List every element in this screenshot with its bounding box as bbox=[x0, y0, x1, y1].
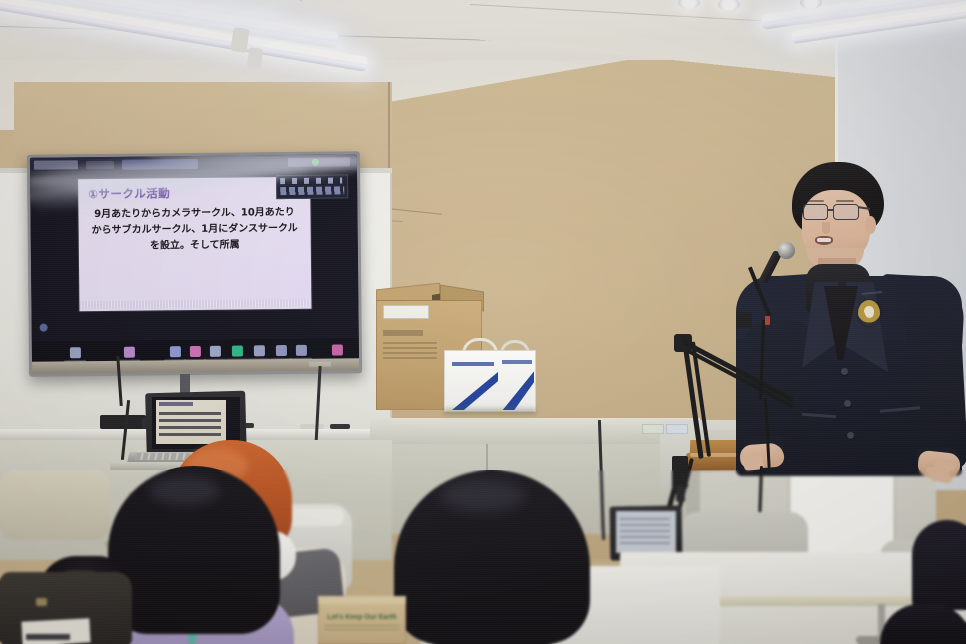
whiteboard-eraser[interactable] bbox=[100, 415, 146, 429]
toolbar-left-controls[interactable] bbox=[34, 160, 78, 169]
taskbar-icon[interactable] bbox=[210, 346, 221, 357]
audience-laptop-content bbox=[620, 518, 670, 544]
box-printed-text bbox=[383, 342, 437, 360]
hair-highlight bbox=[150, 476, 220, 506]
taskbar-icon[interactable] bbox=[232, 345, 243, 356]
status-dot-icon bbox=[312, 159, 319, 166]
eyeglasses-bridge bbox=[828, 209, 834, 211]
boom-arm-joint[interactable] bbox=[736, 312, 752, 328]
emblem-center-icon bbox=[865, 308, 874, 318]
shipping-label bbox=[383, 305, 429, 319]
taskbar-icon[interactable] bbox=[332, 344, 343, 355]
document-text bbox=[26, 634, 70, 640]
slide-bottom-strip bbox=[79, 299, 311, 309]
paper-bag-slogan: Let's Keep Our Earth bbox=[322, 614, 402, 621]
eyeglasses-lens-icon bbox=[803, 204, 828, 220]
laptop-slide-body bbox=[159, 412, 221, 436]
speaker-right-arm bbox=[904, 299, 966, 472]
taskbar-icon[interactable] bbox=[190, 346, 201, 357]
soffit-corner bbox=[388, 82, 390, 178]
black-marker[interactable] bbox=[330, 424, 350, 429]
box-printed-text bbox=[383, 330, 423, 336]
eyeglasses-lens-icon bbox=[833, 204, 859, 220]
classroom-chair[interactable] bbox=[0, 470, 110, 540]
microphone-indicator-icon bbox=[765, 316, 770, 325]
boom-arm-clamp[interactable] bbox=[672, 456, 688, 488]
display-screen[interactable]: ①サークル活動 9月あたりからカメラサークル、10月あたりからサブカルサークル、… bbox=[30, 154, 359, 367]
paper-bag-subtext bbox=[324, 625, 400, 632]
speaker-teeth bbox=[817, 238, 831, 242]
laptop-slide-title bbox=[159, 402, 193, 406]
bag-buckle bbox=[36, 598, 47, 606]
wall-outlet-plate bbox=[666, 424, 688, 434]
slide-title: ①サークル活動 bbox=[88, 184, 300, 202]
screen-side-indicator-icon bbox=[40, 324, 48, 332]
blazer-button bbox=[847, 432, 854, 439]
speaker-eyebrow bbox=[806, 200, 824, 202]
slide-body-text: 9月あたりからカメラサークル、10月あたりからサブカルサークル、1月にダンスサー… bbox=[90, 205, 298, 255]
audience-member-far-right bbox=[912, 520, 966, 610]
wall-outlet-plate bbox=[642, 424, 664, 434]
wall-mounted-display[interactable]: ①サークル活動 9月あたりからカメラサークル、10月あたりからサブカルサークル、… bbox=[27, 151, 362, 376]
hair-highlight bbox=[440, 480, 526, 512]
taskbar-icon[interactable] bbox=[276, 345, 287, 356]
shopping-bag-text bbox=[452, 362, 494, 366]
control-panel-label bbox=[280, 186, 344, 195]
shopping-bag-text bbox=[502, 360, 532, 364]
boom-arm-clamp[interactable] bbox=[676, 486, 685, 502]
white-marker[interactable] bbox=[300, 424, 324, 429]
toolbar-active-tab[interactable] bbox=[122, 159, 198, 170]
taskbar-icon[interactable] bbox=[70, 347, 81, 358]
taskbar-icon[interactable] bbox=[296, 345, 307, 356]
control-panel-buttons[interactable] bbox=[280, 177, 342, 184]
speaker-eyebrow bbox=[836, 200, 854, 202]
speaker-hair-fringe bbox=[796, 180, 880, 206]
blazer-button bbox=[844, 400, 851, 407]
speaker-ear bbox=[865, 216, 876, 234]
speaker-nose bbox=[822, 222, 830, 234]
taskbar-icon[interactable] bbox=[124, 347, 135, 358]
blazer-button bbox=[841, 368, 848, 375]
paper-bag-fold bbox=[318, 596, 406, 604]
shopping-bag-shadow bbox=[444, 408, 536, 415]
paper-document bbox=[21, 618, 90, 644]
taskbar-icon[interactable] bbox=[254, 345, 265, 356]
taskbar-icon[interactable] bbox=[170, 346, 181, 357]
toolbar-tab[interactable] bbox=[86, 161, 114, 169]
classroom-presentation-photo: ①サークル活動 9月あたりからカメラサークル、10月あたりからサブカルサークル、… bbox=[0, 0, 966, 644]
microphone-head[interactable] bbox=[778, 242, 795, 259]
